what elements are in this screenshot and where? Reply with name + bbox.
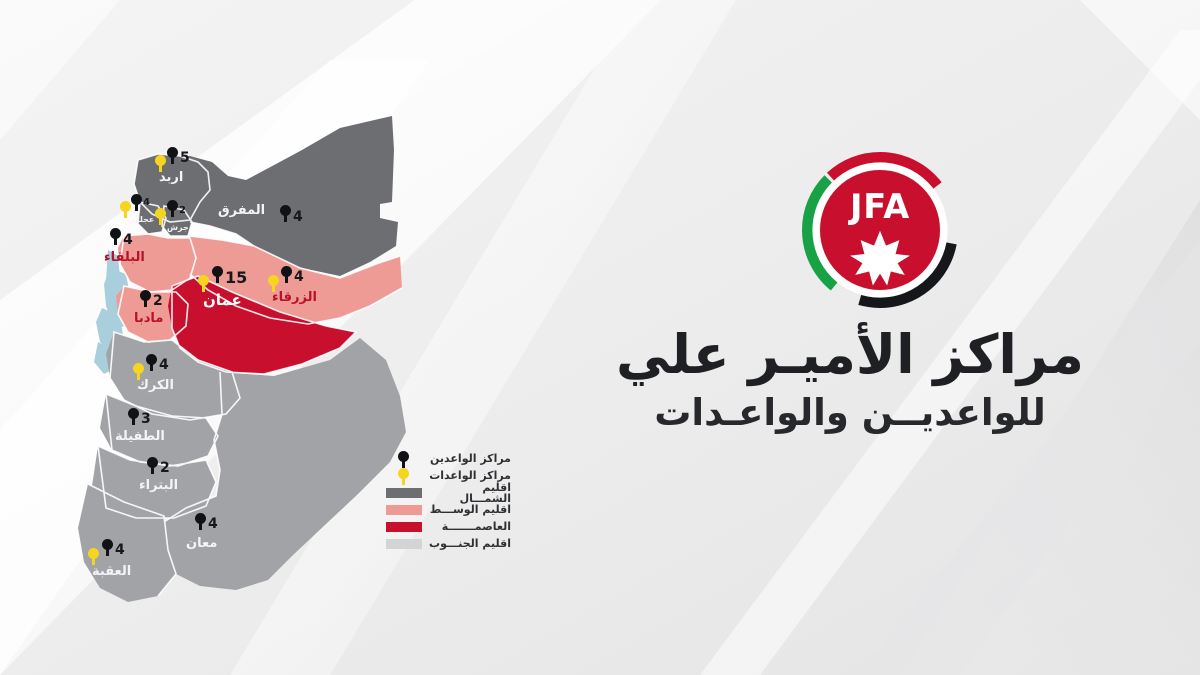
logo-wordmark: JFA xyxy=(848,187,910,226)
center-count: 5 xyxy=(180,151,190,165)
map-pin-yellow-icon xyxy=(398,468,409,485)
legend-label: اقليم الشمـــال xyxy=(428,482,511,504)
pin-needle xyxy=(216,274,218,283)
map-pin-yellow-icon[interactable] xyxy=(88,548,99,565)
pin-needle xyxy=(151,465,153,474)
pin-needle xyxy=(106,547,108,556)
pin-needle xyxy=(285,274,287,283)
governorate-label: عمان xyxy=(203,293,242,308)
map-pin-yellow-icon[interactable] xyxy=(155,208,166,225)
map-pin-black-icon[interactable] xyxy=(102,539,113,556)
jfa-logo-svg[interactable]: JFA xyxy=(800,150,960,310)
governorate-label: البتراء xyxy=(139,479,178,492)
center-count: 4 xyxy=(123,233,133,247)
color-swatch-icon xyxy=(386,539,422,549)
map-pin-yellow-icon[interactable] xyxy=(198,275,209,292)
pin-needle xyxy=(124,209,126,218)
governorate-label: العقبة xyxy=(92,565,131,578)
center-count: 4 xyxy=(208,517,218,531)
legend-mark xyxy=(386,467,422,484)
map-pin-black-icon[interactable] xyxy=(140,290,151,307)
governorate-label: المفرق xyxy=(218,204,265,217)
map-pin-black-icon[interactable] xyxy=(110,228,121,245)
color-swatch-icon xyxy=(386,522,422,532)
legend-row-south-region[interactable]: اقليم الجنـــوب xyxy=(386,535,511,552)
map-pin-black-icon[interactable] xyxy=(128,408,139,425)
legend-mark xyxy=(386,535,422,552)
center-count: 15 xyxy=(225,270,247,286)
map-pin-black-icon[interactable] xyxy=(195,513,206,530)
governorate-label: عجلون xyxy=(128,216,154,224)
governorate-label: الزرقاء xyxy=(272,291,317,304)
legend-label: العاصمـــــــة xyxy=(428,521,511,532)
governorate-label: معان xyxy=(186,537,217,550)
legend-row-capital[interactable]: العاصمـــــــة xyxy=(386,518,511,535)
pin-needle xyxy=(114,236,116,245)
center-count: 3 xyxy=(141,412,151,426)
legend-row-north-region[interactable]: اقليم الشمـــال xyxy=(386,484,511,501)
map-pin-black-icon[interactable] xyxy=(131,194,142,211)
pin-needle xyxy=(135,202,137,211)
page-title-line2: للواعديــن والواعـدات xyxy=(590,391,1110,435)
poster-title: مراكز الأميـر علي للواعديــن والواعـدات xyxy=(590,325,1110,436)
legend-label: اقليم الجنـــوب xyxy=(428,538,511,549)
pin-needle xyxy=(284,213,286,222)
center-count: 4 xyxy=(159,358,169,372)
color-swatch-icon xyxy=(386,505,422,515)
pin-needle xyxy=(132,416,134,425)
pin-needle xyxy=(171,155,173,164)
pin-needle xyxy=(199,521,201,530)
center-count: 4 xyxy=(143,198,150,208)
map-pin-black-icon[interactable] xyxy=(281,266,292,283)
legend-label: مراكز الواعدات xyxy=(428,470,511,481)
legend-row-center-region[interactable]: اقليم الوســـط xyxy=(386,501,511,518)
governorate-label: البلقاء xyxy=(104,251,145,264)
pin-needle xyxy=(171,208,173,217)
center-count: 4 xyxy=(294,270,304,284)
map-pin-black-icon[interactable] xyxy=(167,147,178,164)
governorate-label: الطفيلة xyxy=(115,430,165,443)
legend-label: مراكز الواعدين xyxy=(428,453,511,464)
governorate-label: جرش xyxy=(167,224,189,232)
pin-needle xyxy=(150,362,152,371)
page-title-line1: مراكز الأميـر علي xyxy=(590,325,1110,385)
legend-mark xyxy=(386,518,422,535)
map-pin-black-icon[interactable] xyxy=(280,205,291,222)
governorate-label: اربد xyxy=(159,171,183,184)
legend-mark xyxy=(386,501,422,518)
color-swatch-icon xyxy=(386,488,422,498)
pin-needle xyxy=(144,298,146,307)
governorate-label: مادبا xyxy=(134,312,163,325)
poster-canvas: 5 اربد 4 المفرق 4 عجلون xyxy=(0,0,1200,675)
map-pin-black-icon[interactable] xyxy=(146,354,157,371)
governorate-label: الكرك xyxy=(137,379,174,392)
center-count: 2 xyxy=(160,461,170,475)
legend-mark xyxy=(386,484,422,501)
legend-row-male-centers[interactable]: مراكز الواعدين xyxy=(386,450,511,467)
map-legend: مراكز الواعدين مراكز الواعدات اقليم الشم… xyxy=(386,450,511,552)
pin-needle xyxy=(159,216,161,225)
center-count: 2 xyxy=(179,206,186,216)
center-count: 4 xyxy=(293,210,303,224)
legend-label: اقليم الوســـط xyxy=(428,504,511,515)
map-pin-black-icon[interactable] xyxy=(212,266,223,283)
legend-mark xyxy=(386,450,422,467)
map-pin-black-icon[interactable] xyxy=(167,200,178,217)
center-count: 2 xyxy=(153,294,163,308)
center-count: 4 xyxy=(115,543,125,557)
map-pin-black-icon[interactable] xyxy=(147,457,158,474)
jfa-logo[interactable]: JFA xyxy=(800,150,960,310)
map-pin-black-icon xyxy=(398,451,409,468)
